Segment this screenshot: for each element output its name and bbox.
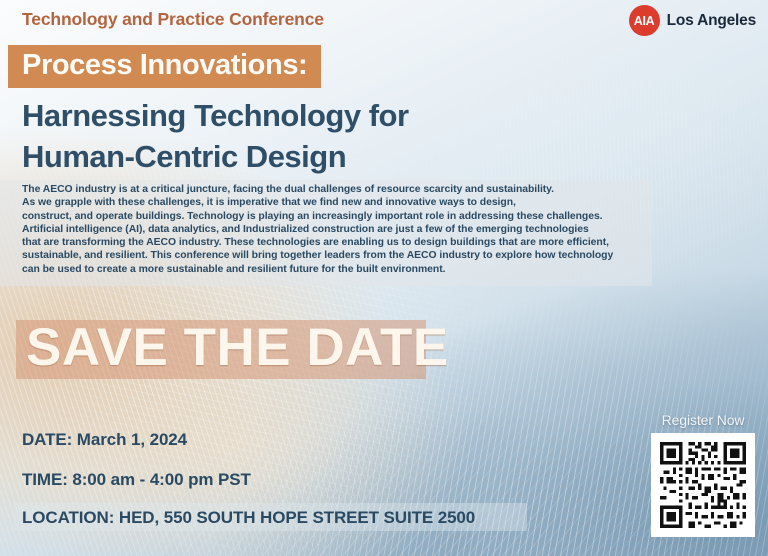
detail-time: TIME: 8:00 am - 4:00 pm PST xyxy=(22,470,251,490)
title-line3: Human-Centric Design xyxy=(22,141,346,172)
detail-location: LOCATION: HED, 550 SOUTH HOPE STREET SUI… xyxy=(22,508,475,528)
body-line-6: sustainable, and resilient. This confere… xyxy=(22,249,650,262)
body-line-3: construct, and operate buildings. Techno… xyxy=(22,210,650,223)
register-now-label: Register Now xyxy=(651,412,755,428)
detail-date: DATE: March 1, 2024 xyxy=(22,430,187,450)
body-line-5: that are transforming the AECO industry.… xyxy=(22,236,650,249)
title-line1-bar: Process Innovations: xyxy=(8,45,321,88)
register-now-block[interactable]: Register Now xyxy=(651,412,755,537)
save-the-date-text: SAVE THE DATE xyxy=(26,318,449,377)
title-line1: Process Innovations: xyxy=(22,49,307,81)
body-line-7: can be used to create a more sustainable… xyxy=(22,263,650,276)
qr-code-icon xyxy=(657,439,749,531)
body-line-2: As we grapple with these challenges, it … xyxy=(22,196,650,209)
aia-los-angeles-logo: AIA Los Angeles xyxy=(629,5,756,36)
body-copy: The AECO industry is at a critical junct… xyxy=(22,183,650,276)
title-line2: Harnessing Technology for xyxy=(22,100,409,131)
qr-code[interactable] xyxy=(651,433,755,537)
logo-chapter-label: Los Angeles xyxy=(667,12,756,30)
body-line-4: Artificial intelligence (AI), data analy… xyxy=(22,223,650,236)
conference-kicker: Technology and Practice Conference xyxy=(22,9,324,30)
aia-badge-icon: AIA xyxy=(629,5,660,36)
poster-canvas: Technology and Practice Conference AIA L… xyxy=(0,0,768,556)
body-line-1: The AECO industry is at a critical junct… xyxy=(22,183,650,196)
